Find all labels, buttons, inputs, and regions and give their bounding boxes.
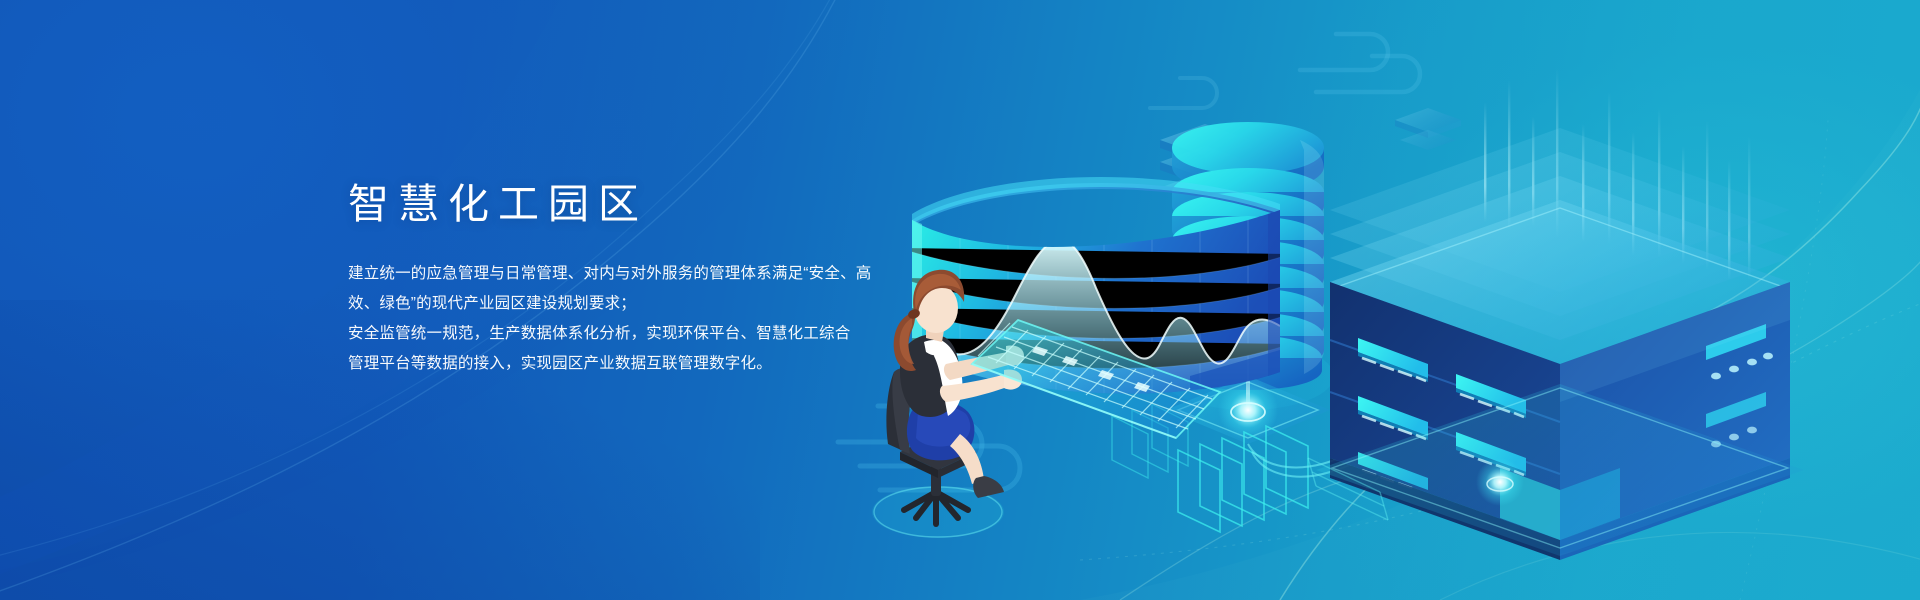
floating-layer-cube-secondary (1395, 108, 1461, 150)
description-line: 管理平台等数据的接入，实现园区产业数据互联管理数字化。 (348, 349, 1068, 379)
page-title: 智慧化工园区 (348, 182, 1068, 226)
figure-shoe (973, 476, 1004, 498)
copy-block: 智慧化工园区 建立统一的应急管理与日常管理、对内与对外服务的管理体系满足“安全、… (348, 182, 1068, 379)
data-node-light-right (1476, 458, 1524, 506)
description-line: 效、绿色”的现代产业园区建设规划要求； (348, 289, 1068, 319)
description: 建立统一的应急管理与日常管理、对内与对外服务的管理体系满足“安全、高 效、绿色”… (348, 259, 1068, 379)
description-line: 建立统一的应急管理与日常管理、对内与对外服务的管理体系满足“安全、高 (348, 259, 1068, 289)
description-line: 安全监管统一规范，生产数据体系化分析，实现环保平台、智慧化工综合 (348, 319, 1068, 349)
hero-banner: 智慧化工园区 建立统一的应急管理与日常管理、对内与对外服务的管理体系满足“安全、… (0, 0, 1920, 600)
